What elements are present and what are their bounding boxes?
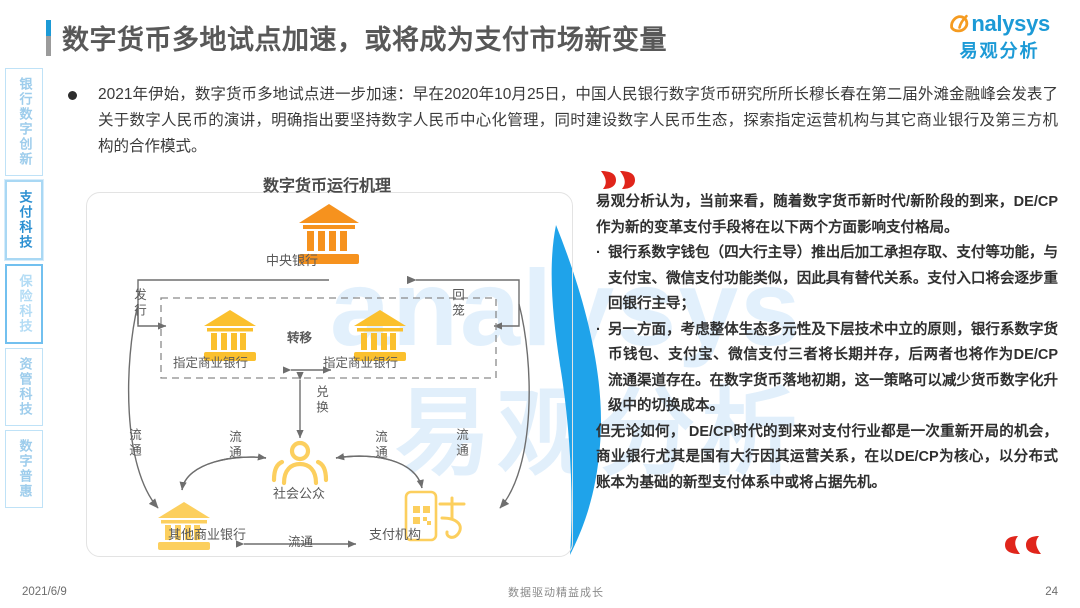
title-accent-bar: [46, 20, 51, 56]
diagram-graphics: [86, 192, 573, 557]
diagram-label-central-bank: 中央银行: [266, 250, 318, 269]
page-title: 数字货币多地试点加速，或将成为支付市场新变量: [46, 18, 667, 57]
analysis-panel: 易观分析认为，当前来看，随着数字货币新时代/新阶段的到来，DE/CP作为新的变革…: [596, 190, 1058, 496]
diagram-label-exchange: 兑换: [312, 385, 331, 416]
list-marker-icon: ·: [596, 241, 608, 318]
diagram-title: 数字货币运行机理: [92, 172, 562, 196]
sidebar-item-asset-management-tech[interactable]: 资管科技: [5, 348, 43, 426]
footer-date: 2021/6/9: [22, 586, 67, 598]
sidebar-item-bank-digital-innovation[interactable]: 银行数字创新: [5, 68, 43, 176]
public-people-icon: [274, 443, 326, 483]
quote-open-icon: [598, 168, 640, 192]
logo-chinese-name: 易观分析: [949, 37, 1050, 63]
intro-bullet-text: 2021年伊始，数字货币多地试点进一步加速：早在2020年10月25日，中国人民…: [98, 82, 1058, 160]
logo-wordmark: nalysys: [971, 13, 1050, 35]
slide-canvas: analysys 易观分析 数字货币多地试点加速，或将成为支付市场新变量 nal…: [0, 0, 1080, 608]
diagram-label-circulate-right: 流通: [452, 428, 471, 459]
footer-page-number: 24: [1045, 586, 1058, 598]
quote-close-icon: [1004, 533, 1046, 557]
diagram-label-public: 社会公众: [273, 483, 325, 502]
diagram-label-circulate-bottom: 流通: [288, 531, 313, 550]
diagram-label-circulate-public-right: 流通: [371, 430, 390, 461]
diagram-label-designated-bank-right: 指定商业银行: [323, 352, 398, 371]
sidebar-item-payment-tech[interactable]: 支付科技: [5, 180, 43, 260]
diagram-label-recall: 回笼: [448, 288, 467, 319]
analysis-point-text: 银行系数字钱包（四大行主导）推出后加工承担存取、支付等功能，与支付宝、微信支付功…: [608, 241, 1058, 318]
footer-tagline: 数据驱动精益成长: [67, 584, 1045, 600]
sidebar-tabs[interactable]: 银行数字创新 支付科技 保险科技 资管科技 数字普惠: [5, 68, 43, 508]
analysis-points-list: · 银行系数字钱包（四大行主导）推出后加工承担存取、支付等功能，与支付宝、微信支…: [596, 241, 1058, 420]
diagram-label-designated-bank-left: 指定商业银行: [173, 352, 248, 371]
brand-logo: nalysys 易观分析: [949, 13, 1050, 63]
diagram-label-other-bank: 其他商业银行: [168, 524, 246, 543]
diagram-label-circulate-public-left: 流通: [225, 430, 244, 461]
sidebar-item-insurance-tech[interactable]: 保险科技: [5, 264, 43, 344]
analysis-conclusion: 但无论如何， DE/CP时代的到来对支付行业都是一次重新开局的机会，商业银行尤其…: [596, 420, 1058, 497]
list-marker-icon: ·: [596, 318, 608, 420]
diagram-label-circulate-left: 流通: [125, 428, 144, 459]
analysis-point-item: · 银行系数字钱包（四大行主导）推出后加工承担存取、支付等功能，与支付宝、微信支…: [596, 241, 1058, 318]
analysis-intro: 易观分析认为，当前来看，随着数字货币新时代/新阶段的到来，DE/CP作为新的变革…: [596, 190, 1058, 241]
analysis-point-text: 另一方面，考虑整体生态多元性及下层技术中立的原则，银行系数字货币钱包、支付宝、微…: [608, 318, 1058, 420]
diagram-label-payment-org: 支付机构: [369, 524, 421, 543]
diagram-label-transfer: 转移: [287, 327, 312, 346]
sidebar-item-digital-inclusive-finance[interactable]: 数字普惠: [5, 430, 43, 508]
diagram-label-issue: 发行: [130, 288, 149, 319]
bullet-dot-icon: [68, 91, 77, 100]
logo-swoosh-icon: [949, 13, 970, 35]
title-text: 数字货币多地试点加速，或将成为支付市场新变量: [62, 18, 667, 57]
footer: 2021/6/9 数据驱动精益成长 24: [0, 584, 1080, 600]
analysis-point-item: · 另一方面，考虑整体生态多元性及下层技术中立的原则，银行系数字货币钱包、支付宝…: [596, 318, 1058, 420]
intro-bullet: 2021年伊始，数字货币多地试点进一步加速：早在2020年10月25日，中国人民…: [68, 82, 1058, 160]
